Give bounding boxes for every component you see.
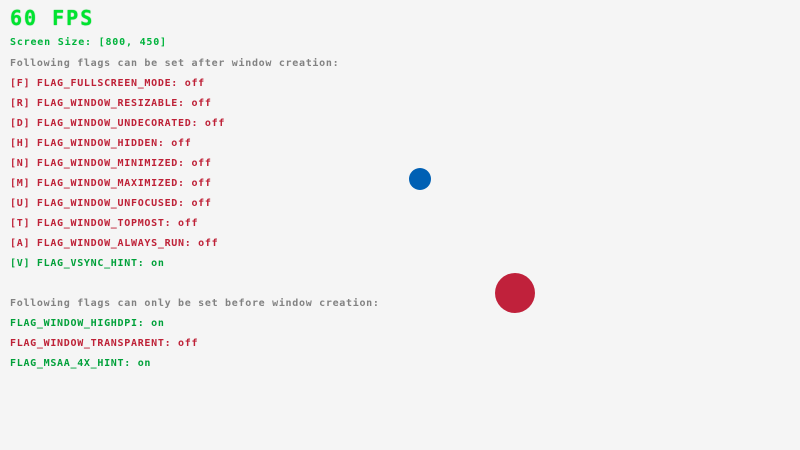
flag-row-flag-window-topmost[interactable]: [T] FLAG_WINDOW_TOPMOST: off [10, 219, 225, 239]
flag-row-flag-window-highdpi: FLAG_WINDOW_HIGHDPI: on [10, 319, 198, 339]
section-header-after-creation: Following flags can be set after window … [10, 59, 339, 69]
flag-row-flag-window-hidden[interactable]: [H] FLAG_WINDOW_HIDDEN: off [10, 139, 225, 159]
flag-row-flag-window-transparent: FLAG_WINDOW_TRANSPARENT: off [10, 339, 198, 359]
fps-counter: 60 FPS [10, 8, 94, 28]
section-header-before-creation: Following flags can only be set before w… [10, 299, 380, 309]
flag-row-flag-vsync-hint[interactable]: [V] FLAG_VSYNC_HINT: on [10, 259, 225, 279]
flag-row-flag-window-always-run[interactable]: [A] FLAG_WINDOW_ALWAYS_RUN: off [10, 239, 225, 259]
flag-row-flag-msaa-4x-hint: FLAG_MSAA_4X_HINT: on [10, 359, 198, 379]
blue-circle-shape [409, 168, 431, 190]
flag-row-flag-window-undecorated[interactable]: [D] FLAG_WINDOW_UNDECORATED: off [10, 119, 225, 139]
flag-list-before-creation: FLAG_WINDOW_HIGHDPI: onFLAG_WINDOW_TRANS… [10, 319, 198, 379]
flag-list-after-creation: [F] FLAG_FULLSCREEN_MODE: off[R] FLAG_WI… [10, 79, 225, 279]
red-circle-shape [495, 273, 535, 313]
flag-row-flag-fullscreen-mode[interactable]: [F] FLAG_FULLSCREEN_MODE: off [10, 79, 225, 99]
screen-size-label: Screen Size: [800, 450] [10, 38, 167, 48]
raylib-window-canvas[interactable]: 60 FPS Screen Size: [800, 450] Following… [0, 0, 800, 450]
flag-row-flag-window-resizable[interactable]: [R] FLAG_WINDOW_RESIZABLE: off [10, 99, 225, 119]
flag-row-flag-window-minimized[interactable]: [N] FLAG_WINDOW_MINIMIZED: off [10, 159, 225, 179]
flag-row-flag-window-maximized[interactable]: [M] FLAG_WINDOW_MAXIMIZED: off [10, 179, 225, 199]
flag-row-flag-window-unfocused[interactable]: [U] FLAG_WINDOW_UNFOCUSED: off [10, 199, 225, 219]
